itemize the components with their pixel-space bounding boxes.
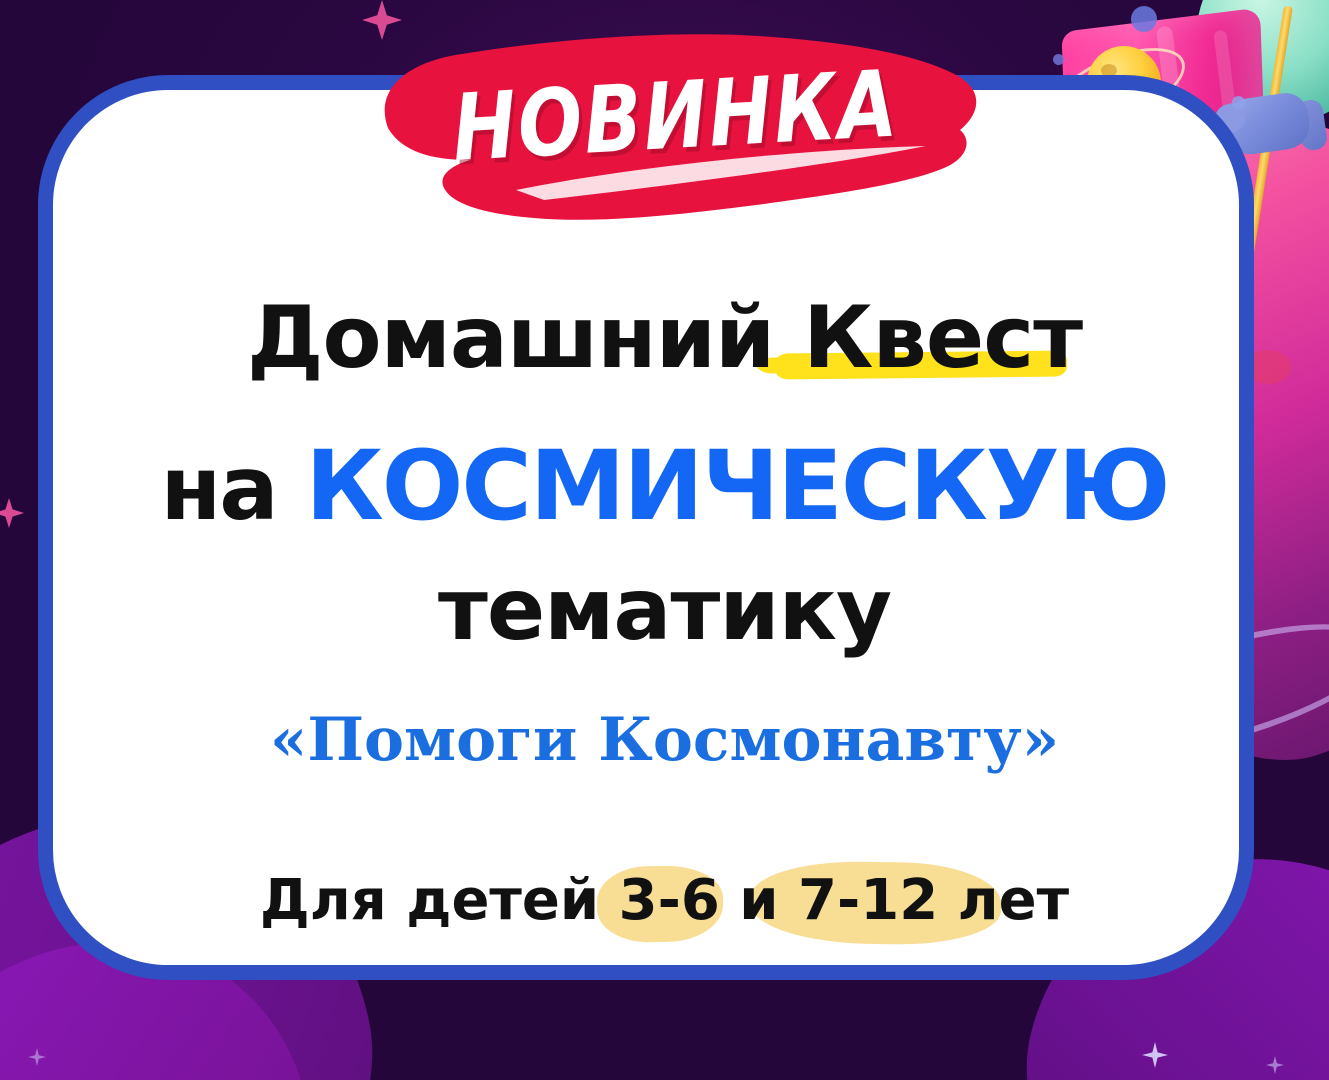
headline-line-1: Домашний Квест bbox=[0, 288, 1329, 388]
headline-line-3: тематику bbox=[0, 560, 1329, 660]
age-prefix: Для детей bbox=[260, 868, 619, 933]
age-range-line: Для детей 3-6 и 7-12 лет bbox=[0, 868, 1329, 933]
novinka-badge: НОВИНКА bbox=[366, 18, 986, 228]
novinka-badge-label: НОВИНКА bbox=[450, 52, 901, 183]
age-conjunction: и bbox=[720, 868, 798, 933]
headline-line-2-accent: КОСМИЧЕСКУЮ bbox=[305, 430, 1168, 542]
novinka-badge-text-wrap: НОВИНКА bbox=[366, 18, 986, 228]
poster: Домашний Квест на КОСМИЧЕСКУЮ тематику «… bbox=[0, 0, 1329, 1080]
headline-line-2: на КОСМИЧЕСКУЮ bbox=[0, 430, 1329, 542]
age-range-2: 7-12 лет bbox=[798, 868, 1069, 933]
age-range-1: 3-6 bbox=[619, 868, 720, 933]
headline-line-2-prefix: на bbox=[160, 437, 305, 540]
quest-subtitle: «Помоги Космонавту» bbox=[0, 705, 1329, 775]
